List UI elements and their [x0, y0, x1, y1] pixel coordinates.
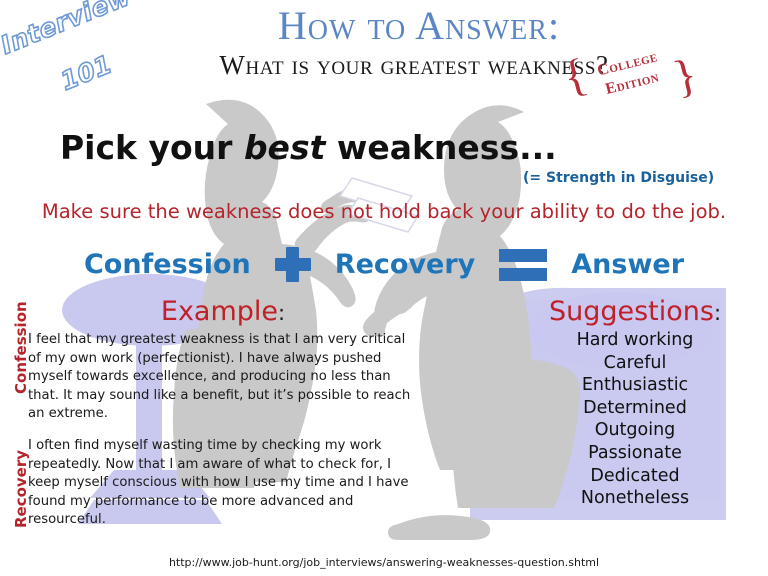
formula-term-answer: Answer: [571, 249, 684, 280]
formula-row: Confession Recovery Answer: [0, 243, 768, 285]
formula-term-confession: Confession: [84, 249, 251, 280]
example-heading-colon: :: [278, 301, 285, 325]
headline-prefix: Pick your: [60, 128, 244, 167]
headline-suffix: weakness...: [325, 128, 556, 167]
list-item: Passionate: [520, 442, 750, 465]
slide-canvas: Interview Tip 101 How to Answer: What is…: [0, 0, 768, 576]
list-item: Nonetheless: [520, 487, 750, 510]
list-item: Enthusiastic: [520, 374, 750, 397]
list-item: Outgoing: [520, 419, 750, 442]
logo-line-1: Interview Tip: [0, 0, 185, 60]
suggestions-heading-text: Suggestions: [549, 296, 714, 327]
suggestions-heading-colon: :: [714, 301, 721, 325]
confession-paragraph: I feel that my greatest weakness is that…: [28, 331, 418, 424]
plus-icon: [273, 244, 313, 284]
list-item: Determined: [520, 397, 750, 420]
suggestions-section: Suggestions: Hard working Careful Enthus…: [520, 296, 750, 510]
college-edition-stamp: { } College Edition: [564, 46, 694, 108]
interview-tip-logo: Interview Tip 101: [0, 6, 208, 106]
headline-emphasis: best: [244, 128, 325, 167]
headline-aside: (= Strength in Disguise): [523, 170, 714, 186]
suggestions-list: Hard working Careful Enthusiastic Determ…: [520, 329, 750, 510]
example-heading-text: Example: [161, 296, 278, 327]
side-label-confession: Confession: [12, 304, 30, 394]
list-item: Careful: [520, 352, 750, 375]
side-label-recovery: Recovery: [12, 444, 30, 534]
example-heading: Example:: [28, 296, 418, 327]
logo-line-2: 101: [57, 50, 116, 96]
recovery-paragraph: I often find myself wasting time by chec…: [28, 437, 418, 530]
warning-text: Make sure the weakness does not hold bac…: [0, 200, 768, 223]
list-item: Dedicated: [520, 465, 750, 488]
equals-icon: [497, 245, 549, 283]
formula-term-recovery: Recovery: [335, 249, 475, 280]
source-url: http://www.job-hunt.org/job_interviews/a…: [0, 556, 768, 569]
stamp-text: College Edition: [577, 42, 684, 105]
suggestions-heading: Suggestions:: [520, 296, 750, 327]
headline: Pick your best weakness...: [60, 128, 557, 167]
example-section: Example: I feel that my greatest weaknes…: [28, 296, 418, 543]
list-item: Hard working: [520, 329, 750, 352]
